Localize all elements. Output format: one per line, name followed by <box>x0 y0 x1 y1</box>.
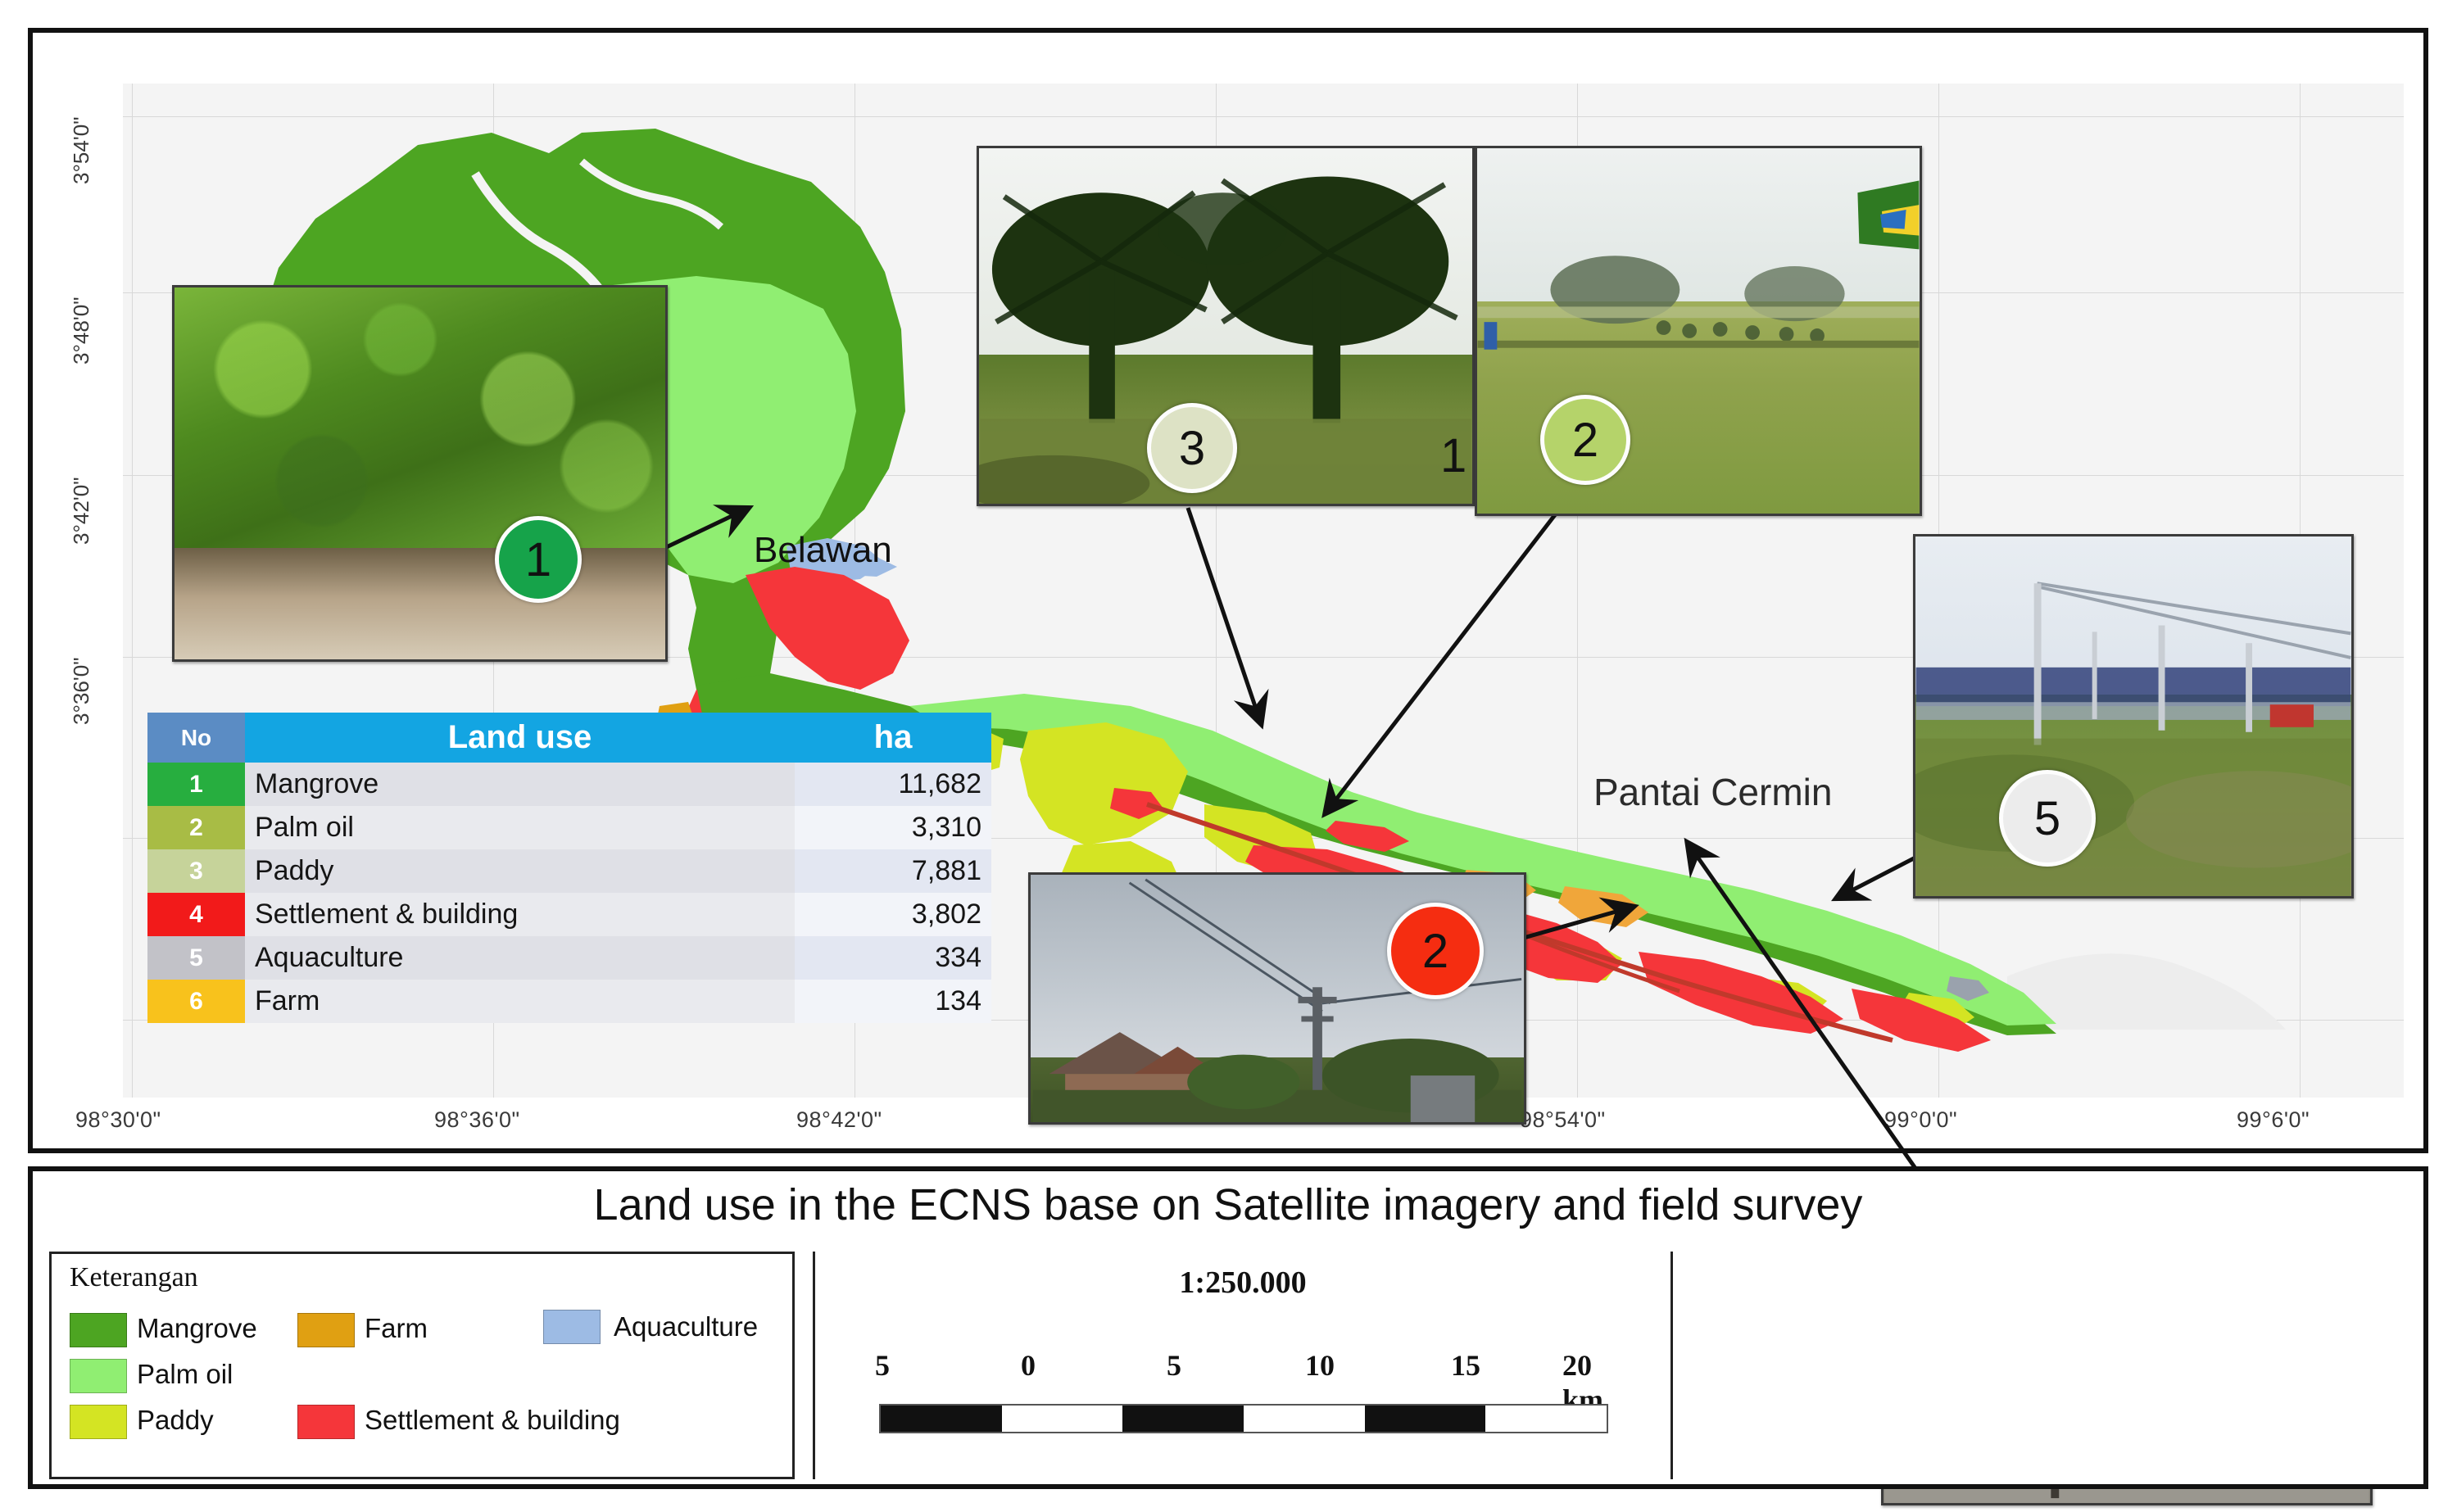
callout-2-paddy[interactable]: 2 <box>1540 395 1630 485</box>
scale-box: 1:250.000 5 0 5 10 15 20 km <box>813 1252 1673 1479</box>
place-label-pantai-cermin: Pantai Cermin <box>1593 770 1832 814</box>
map-figure: Belawan Pantai Cermin 3°54'0" 3°48'0" 3°… <box>0 0 2457 1512</box>
table-row: 6 Farm 134 <box>147 980 991 1023</box>
scale-tick: 0 <box>1021 1348 1036 1383</box>
legend-swatch-mangrove <box>70 1313 127 1347</box>
scale-tick: 15 <box>1451 1348 1480 1383</box>
row-no: 4 <box>147 893 245 936</box>
row-name: Paddy <box>245 849 795 893</box>
lat-tick: 3°48'0" <box>69 297 94 364</box>
scale-bar <box>879 1404 1608 1433</box>
map-legend-panel: Land use in the ECNS base on Satellite i… <box>28 1166 2428 1489</box>
row-name: Palm oil <box>245 806 795 849</box>
row-ha: 11,682 <box>795 763 991 806</box>
photo-aquaculture <box>1913 534 2354 899</box>
legend-label-settlement: Settlement & building <box>365 1405 620 1436</box>
table-row: 5 Aquaculture 334 <box>147 936 991 980</box>
legend-swatch-settlement <box>297 1405 355 1439</box>
lat-tick: 3°54'0" <box>69 117 94 184</box>
legend-label-aquaculture: Aquaculture <box>614 1311 758 1342</box>
legend-label-paddy: Paddy <box>137 1405 214 1436</box>
stray-label-1: 1 <box>1440 428 1466 483</box>
row-no: 3 <box>147 849 245 893</box>
lon-tick: 99°0'0" <box>1884 1107 1957 1133</box>
legend-swatch-palm-oil <box>70 1359 127 1393</box>
row-ha: 7,881 <box>795 849 991 893</box>
th-ha: ha <box>795 713 991 763</box>
row-no: 5 <box>147 936 245 980</box>
legend-box: Keterangan Mangrove Palm oil Paddy Farm … <box>49 1252 795 1479</box>
legend-swatch-farm <box>297 1313 355 1347</box>
legend-label-mangrove: Mangrove <box>137 1313 257 1344</box>
row-name: Mangrove <box>245 763 795 806</box>
callout-5-aquaculture[interactable]: 5 <box>1999 770 2096 867</box>
map-title: Land use in the ECNS base on Satellite i… <box>33 1179 2423 1230</box>
lat-tick: 3°36'0" <box>69 658 94 725</box>
row-no: 2 <box>147 806 245 849</box>
callout-1-mangrove[interactable]: 1 <box>495 516 582 603</box>
row-ha: 334 <box>795 936 991 980</box>
lat-tick: 3°42'0" <box>69 478 94 545</box>
lon-tick: 98°36'0" <box>434 1107 520 1133</box>
legend-label-farm: Farm <box>365 1313 428 1344</box>
row-no: 6 <box>147 980 245 1023</box>
legend-label-palm-oil: Palm oil <box>137 1359 233 1390</box>
row-ha: 134 <box>795 980 991 1023</box>
table-header-row: No Land use ha <box>147 713 991 763</box>
scale-tick: 5 <box>1167 1348 1181 1383</box>
th-name: Land use <box>245 713 795 763</box>
place-label-belawan: Belawan <box>754 530 892 571</box>
lon-tick: 99°6'0" <box>2237 1107 2310 1133</box>
table-row: 2 Palm oil 3,310 <box>147 806 991 849</box>
row-name: Settlement & building <box>245 893 795 936</box>
scale-tick: 10 <box>1305 1348 1335 1383</box>
lon-tick: 98°42'0" <box>796 1107 882 1133</box>
table-row: 1 Mangrove 11,682 <box>147 763 991 806</box>
row-name: Aquaculture <box>245 936 795 980</box>
land-use-table: No Land use ha 1 Mangrove 11,682 2 Palm … <box>147 713 991 1023</box>
table-row: 3 Paddy 7,881 <box>147 849 991 893</box>
table-row: 4 Settlement & building 3,802 <box>147 893 991 936</box>
scale-ratio: 1:250.000 <box>815 1265 1670 1301</box>
scale-tick: 5 <box>875 1348 890 1383</box>
row-ha: 3,310 <box>795 806 991 849</box>
row-name: Farm <box>245 980 795 1023</box>
photo-mangrove <box>172 285 668 662</box>
legend-title: Keterangan <box>70 1262 198 1293</box>
th-no: No <box>147 713 245 763</box>
callout-3-palm-oil[interactable]: 3 <box>1147 403 1237 493</box>
lon-tick: 98°54'0" <box>1520 1107 1606 1133</box>
row-no: 1 <box>147 763 245 806</box>
legend-swatch-paddy <box>70 1405 127 1439</box>
callout-2-settlement[interactable]: 2 <box>1387 903 1484 999</box>
lon-tick: 98°30'0" <box>75 1107 161 1133</box>
legend-swatch-aquaculture <box>543 1310 601 1344</box>
row-ha: 3,802 <box>795 893 991 936</box>
photo-paddy <box>1475 146 1922 516</box>
